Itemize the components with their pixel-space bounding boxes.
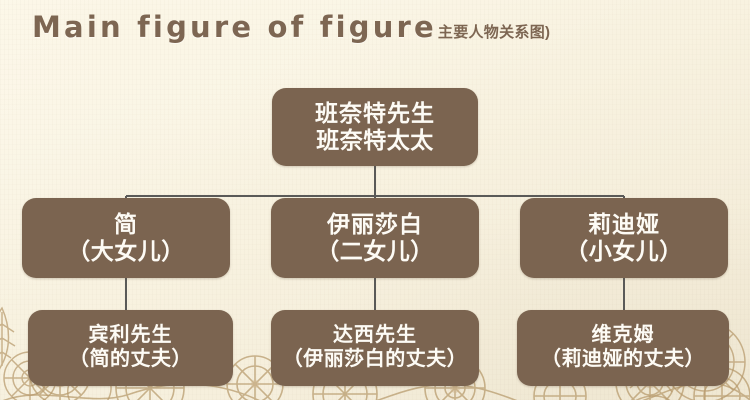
node-lydia-line1: 莉迪娅 <box>588 211 660 238</box>
node-jane[interactable]: 简 （大女儿） <box>22 198 230 278</box>
node-darcy-line1: 达西先生 <box>333 324 417 348</box>
slide-title: Main figure of figure 主要人物关系图) <box>32 10 550 44</box>
node-elizabeth-line1: 伊丽莎白 <box>327 211 423 238</box>
node-jane-line1: 简 <box>114 211 138 238</box>
node-parents[interactable]: 班奈特先生 班奈特太太 <box>272 88 478 166</box>
node-darcy-line2: （伊丽莎白的丈夫） <box>283 348 468 372</box>
node-lydia-line2: （小女儿） <box>565 238 683 265</box>
node-jane-line2: （大女儿） <box>67 238 185 265</box>
node-darcy[interactable]: 达西先生 （伊丽莎白的丈夫） <box>271 310 479 386</box>
node-wickham-line2: （莉迪娅的丈夫） <box>541 348 705 372</box>
slide-canvas: Main figure of figure 主要人物关系图) 班奈特先生 班奈特… <box>0 0 750 400</box>
node-parents-line1: 班奈特先生 <box>315 100 435 127</box>
node-elizabeth-line2: （二女儿） <box>316 238 434 265</box>
node-wickham-line1: 维克姆 <box>592 324 655 348</box>
node-bingley-line2: （简的丈夫） <box>69 348 192 372</box>
node-lydia[interactable]: 莉迪娅 （小女儿） <box>520 198 728 278</box>
node-parents-line2: 班奈特太太 <box>316 127 434 154</box>
title-chinese: 主要人物关系图) <box>438 21 550 42</box>
title-english: Main figure of figure <box>32 10 437 44</box>
node-bingley-line1: 宾利先生 <box>89 324 173 348</box>
node-wickham[interactable]: 维克姆 （莉迪娅的丈夫） <box>517 310 729 386</box>
node-elizabeth[interactable]: 伊丽莎白 （二女儿） <box>271 198 479 278</box>
node-bingley[interactable]: 宾利先生 （简的丈夫） <box>28 310 233 386</box>
